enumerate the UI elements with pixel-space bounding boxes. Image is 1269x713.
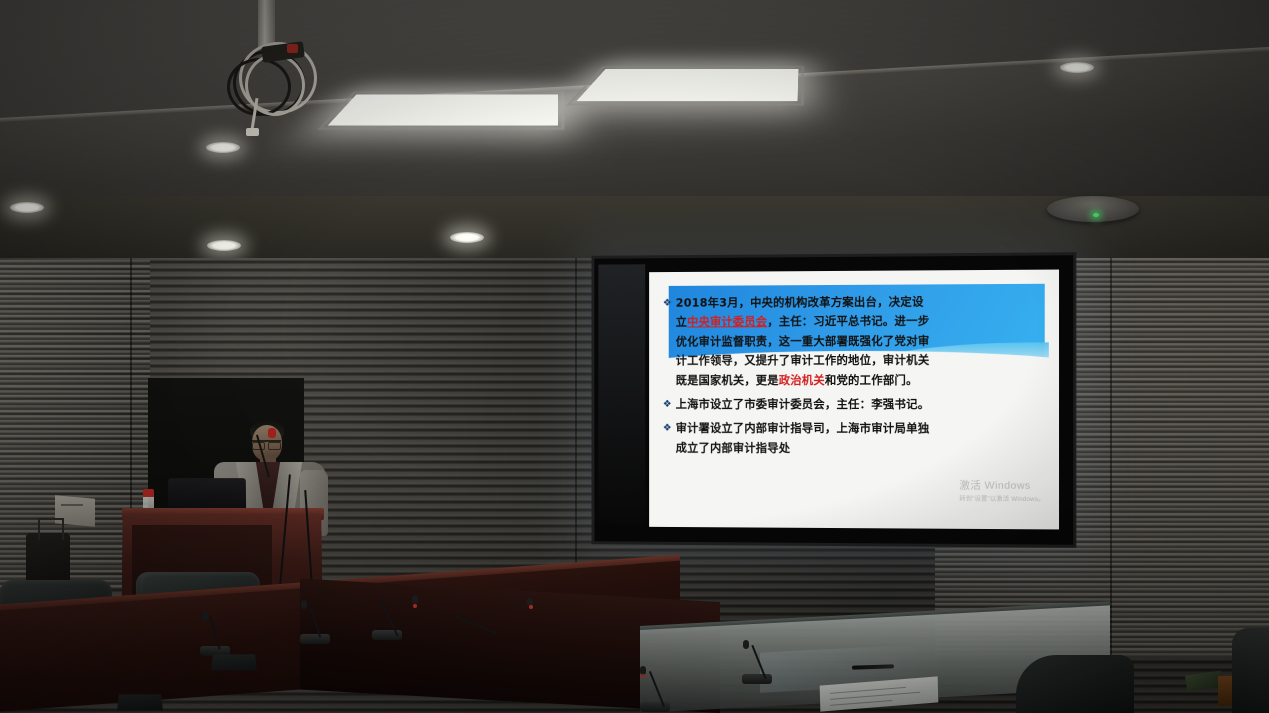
slide-highlight-red: 政治机关 (779, 373, 825, 387)
recessed-downlight-3 (207, 240, 241, 251)
slide-text-span: 和党的工作部门。 (825, 373, 918, 387)
watermark-subtitle: 转到"设置"以激活 Windows。 (959, 494, 1045, 503)
slide-bullet-3-text: 审计署设立了内部审计指导司，上海市审计局单独 成立了内部审计指导处 (676, 419, 1049, 459)
dome-status-led-icon (1093, 213, 1099, 217)
watermark-title: 激活 Windows (959, 477, 1045, 492)
luggage-handle (38, 518, 64, 540)
led-panel-light-right (576, 69, 798, 101)
slide-bullet-1: ❖ 2018年3月，中央的机构改革方案出台，决定设 立中央审计委员会，主任：习近… (663, 292, 1049, 390)
cable-plug (246, 128, 259, 136)
windows-activation-watermark: 激活 Windows 转到"设置"以激活 Windows。 (959, 477, 1045, 503)
recessed-downlight-1 (206, 142, 240, 153)
mic-flip-panel-1[interactable] (117, 694, 163, 710)
luggage-bag (26, 533, 70, 585)
slide-bullet-1-text: 2018年3月，中央的机构改革方案出台，决定设 立中央审计委员会，主任：习近平总… (676, 292, 1049, 390)
slide-text-span: 计工作领导，又提升了审计工作的地位，审计机关 (676, 353, 930, 367)
ceiling-dome-detector-icon (1047, 196, 1139, 222)
slide-line: 审计署设立了内部审计指导司，上海市审计局单独 (676, 419, 1049, 439)
slide-line: 成立了内部审计指导处 (676, 439, 1049, 459)
diamond-bullet-icon: ❖ (663, 419, 672, 438)
projector-indicator (287, 44, 298, 53)
sign-text-line (61, 504, 83, 506)
conference-room-photo: ❖ 2018年3月，中央的机构改革方案出台，决定设 立中央审计委员会，主任：习近… (0, 0, 1269, 713)
display-glare (598, 264, 645, 531)
presentation-display[interactable]: ❖ 2018年3月，中央的机构改革方案出台，决定设 立中央审计委员会，主任：习近… (591, 252, 1076, 548)
slide-text-span: 成立了内部审计指导处 (676, 441, 791, 455)
wall-seam-right (1110, 258, 1112, 658)
diamond-bullet-icon: ❖ (663, 395, 672, 414)
slide-bullet-2: ❖ 上海市设立了市委审计委员会，主任：李强书记。 (663, 395, 1049, 415)
eyeglasses-icon (252, 440, 281, 449)
slide-text-span: 审计署设立了内部审计指导司，上海市审计局单独 (676, 421, 930, 435)
slide-line: 上海市设立了市委审计委员会，主任：李强书记。 (676, 395, 1049, 415)
slide-line: 立中央审计委员会，主任：习近平总书记。进一步 (676, 311, 1049, 332)
mic-flip-panel-2[interactable] (211, 654, 257, 670)
chair-foreground-right[interactable] (1016, 655, 1134, 713)
slide-text-span: 2018年3月，中央的机构改革方案出台，决定设 (676, 295, 924, 310)
recessed-downlight-2 (10, 202, 44, 213)
diamond-bullet-icon: ❖ (663, 294, 672, 313)
water-bottle-cap (143, 489, 154, 497)
slide-line: 既是国家机关，更是政治机关和党的工作部门。 (676, 370, 1049, 390)
slide-text-span: 上海市设立了市委审计委员会，主任：李强书记。 (676, 397, 930, 411)
slide-content: ❖ 2018年3月，中央的机构改革方案出台，决定设 立中央审计委员会，主任：习近… (649, 270, 1059, 530)
slide-line: 优化审计监督职责，这一重大部署既强化了党对审 (676, 331, 1049, 352)
slide-text-span: 既是国家机关，更是 (676, 373, 779, 387)
recessed-downlight-4 (450, 232, 484, 243)
slide-line: 计工作领导，又提升了审计工作的地位，审计机关 (676, 351, 1049, 371)
slide-bullet-3: ❖ 审计署设立了内部审计指导司，上海市审计局单独 成立了内部审计指导处 (663, 419, 1049, 459)
slide-line: 2018年3月，中央的机构改革方案出台，决定设 (676, 292, 1049, 313)
recessed-downlight-5 (1060, 62, 1094, 73)
slide-text-span: 优化审计监督职责，这一重大部署既强化了党对审 (676, 333, 930, 348)
slide-text-span: ，主任：习近平总书记。进一步 (767, 314, 929, 329)
slide-bullet-2-text: 上海市设立了市委审计委员会，主任：李强书记。 (676, 395, 1049, 415)
chair-far-right[interactable] (1232, 628, 1269, 713)
projector-cable-coil (225, 28, 345, 123)
led-panel-light-left (328, 95, 558, 126)
slide-highlight-red: 中央审计委员会 (687, 315, 767, 329)
slide-text-span: 立 (676, 315, 687, 329)
slide-body: ❖ 2018年3月，中央的机构改革方案出台，决定设 立中央审计委员会，主任：习近… (663, 292, 1049, 464)
podium-mic-head-icon (268, 428, 276, 438)
